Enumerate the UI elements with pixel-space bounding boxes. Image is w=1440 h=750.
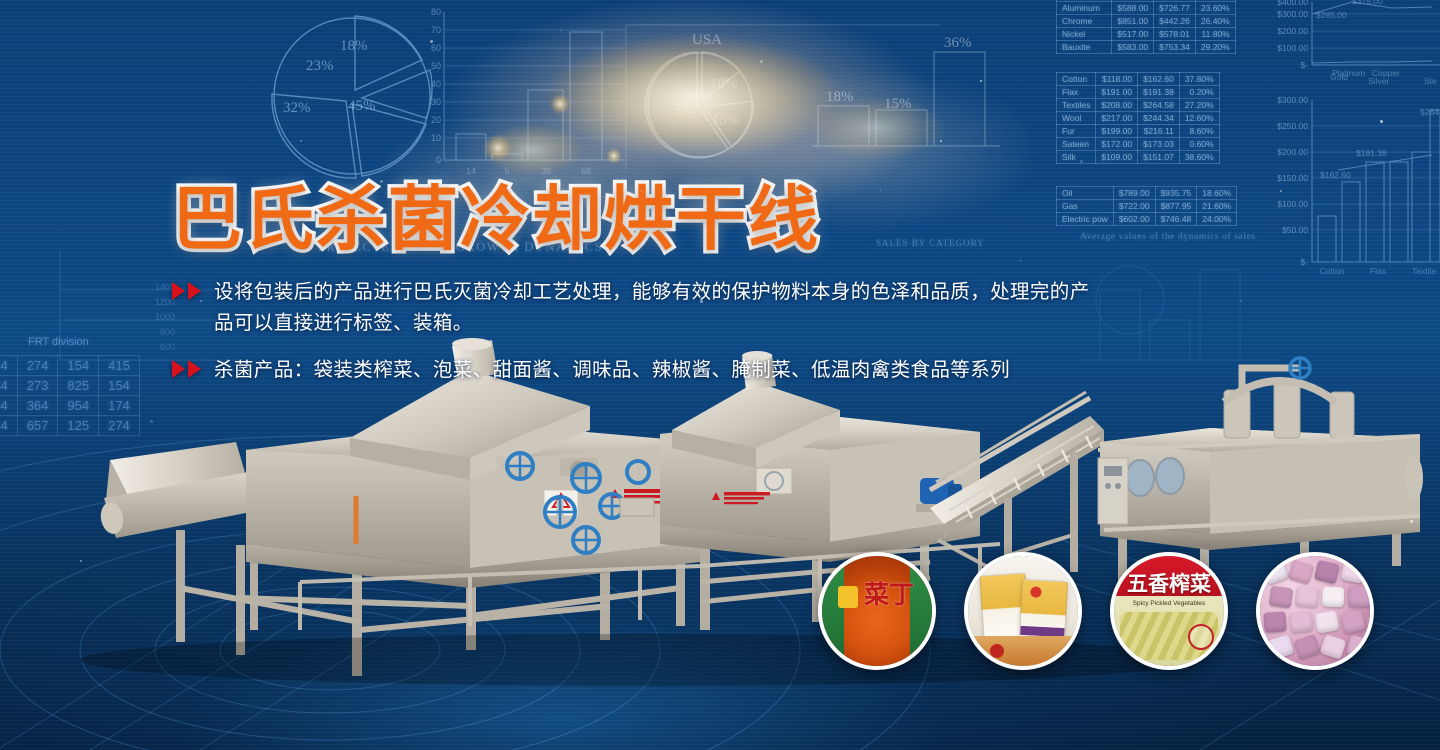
product-image-3: 五香榨菜 Spicy Pickled Vegetables	[1114, 556, 1224, 666]
table-row: Fur$199.00$216.118.60%	[1057, 125, 1220, 138]
promotional-banner: 18% 23% 32% 45% 8070 6050 4030 2010 0	[0, 0, 1440, 750]
table-row: Chrome$851.00$442.2626.40%	[1057, 15, 1236, 28]
candy-cube	[1322, 587, 1345, 608]
product-image-4	[1260, 556, 1370, 666]
candy-cube	[1261, 559, 1289, 585]
candy-cube	[1348, 587, 1370, 607]
bullet-text-1: 设将包装后的产品进行巴氏灭菌冷却工艺处理，能够有效的保护物料本身的色泽和品质，处…	[214, 276, 1092, 338]
background-textile-table: Cotton$118.00$162.6037.80%Flax$191.00$19…	[1056, 72, 1220, 164]
table-row: Nickel$517.00$578.0111.80%	[1057, 28, 1236, 41]
product-thumb-1[interactable]: 菜丁	[818, 552, 936, 670]
double-arrow-icon	[172, 360, 201, 378]
product-thumb-3[interactable]: 五香榨菜 Spicy Pickled Vegetables	[1110, 552, 1228, 670]
background-commodity-table: Manganese$400.00$448.8012.30%Aluminum$58…	[1056, 0, 1236, 54]
caption-average-values: Average values of the dynamics of sales	[1080, 232, 1256, 242]
table-row: Cotton$118.00$162.6037.80%	[1057, 73, 1220, 86]
textile-rows: Cotton$118.00$162.6037.80%Flax$191.00$19…	[1057, 73, 1220, 164]
table-row: Wool$217.00$244.3412.60%	[1057, 112, 1220, 125]
product-thumbnail-row: 菜丁 五香榨菜 Spicy Pickled Vegetables	[818, 552, 1374, 670]
table-row: Sateen$172.00$173.030.60%	[1057, 138, 1220, 151]
page-title: 巴氏杀菌冷却烘干线	[172, 163, 820, 264]
candy-cube	[1319, 634, 1346, 660]
table-row: Electric pow$602.00$746.4824.00%	[1057, 213, 1237, 226]
product-sublabel-3: Spicy Pickled Vegetables	[1114, 600, 1224, 607]
candy-cube	[1314, 610, 1339, 634]
table-row: Textiles$208.00$264.5827.20%	[1057, 99, 1220, 112]
package-edge-right	[910, 556, 932, 666]
product-thumb-4[interactable]	[1256, 552, 1374, 670]
package-edge-left	[822, 556, 844, 666]
bullet-list: 设将包装后的产品进行巴氏灭菌冷却工艺处理，能够有效的保护物料本身的色泽和品质，处…	[172, 276, 1092, 401]
product-label-1: 菜丁	[864, 582, 914, 607]
table-row: Oil$789.00$935.7518.60%	[1057, 187, 1237, 200]
brand-tag	[838, 586, 858, 608]
candy-cube	[1293, 634, 1320, 660]
commodity-rows: Manganese$400.00$448.8012.30%Aluminum$58…	[1057, 0, 1236, 54]
caption-sales-by-category: SALES BY CATEGORY	[876, 238, 985, 248]
table-row: Bauxite$583.00$753.3429.20%	[1057, 41, 1236, 54]
table-row: Aluminum$588.00$726.7723.60%	[1057, 2, 1236, 15]
candy-cube	[1289, 611, 1313, 634]
product-image-2	[968, 556, 1078, 666]
carton-logo	[1030, 586, 1042, 598]
bullet-text-2: 杀菌产品：袋装类榨菜、泡菜、甜面酱、调味品、辣椒酱、腌制菜、低温肉禽类食品等系列	[214, 354, 1092, 385]
package-seal	[1188, 624, 1214, 650]
bullet-item-1: 设将包装后的产品进行巴氏灭菌冷却工艺处理，能够有效的保护物料本身的色泽和品质，处…	[172, 276, 1092, 338]
table-row: Flax$191.00$191.380.20%	[1057, 86, 1220, 99]
candy-cube	[1269, 586, 1294, 609]
energy-rows: Oil$789.00$935.7518.60%Gas$722.00$877.95…	[1057, 187, 1237, 226]
bullet-item-2: 杀菌产品：袋装类榨菜、泡菜、甜面酱、调味品、辣椒酱、腌制菜、低温肉禽类食品等系列	[172, 354, 1092, 385]
table-row: Gas$722.00$877.9521.60%	[1057, 200, 1237, 213]
candy-cube	[1340, 560, 1365, 584]
background-energy-table: Oil$789.00$935.7518.60%Gas$722.00$877.95…	[1056, 186, 1237, 226]
candy-cube	[1340, 610, 1366, 634]
candy-cube	[1288, 559, 1315, 585]
product-label-3: 五香榨菜	[1120, 574, 1218, 595]
double-arrow-icon	[172, 282, 201, 300]
candy-cube	[1314, 560, 1340, 585]
product-thumb-2[interactable]	[964, 552, 1082, 670]
candy-cube	[1346, 634, 1372, 659]
candy-cube	[1295, 586, 1319, 608]
candy-cube	[1263, 611, 1286, 632]
candy-cube	[1268, 634, 1295, 659]
product-image-1: 菜丁	[822, 556, 932, 666]
carton-food-photo	[968, 636, 1078, 666]
